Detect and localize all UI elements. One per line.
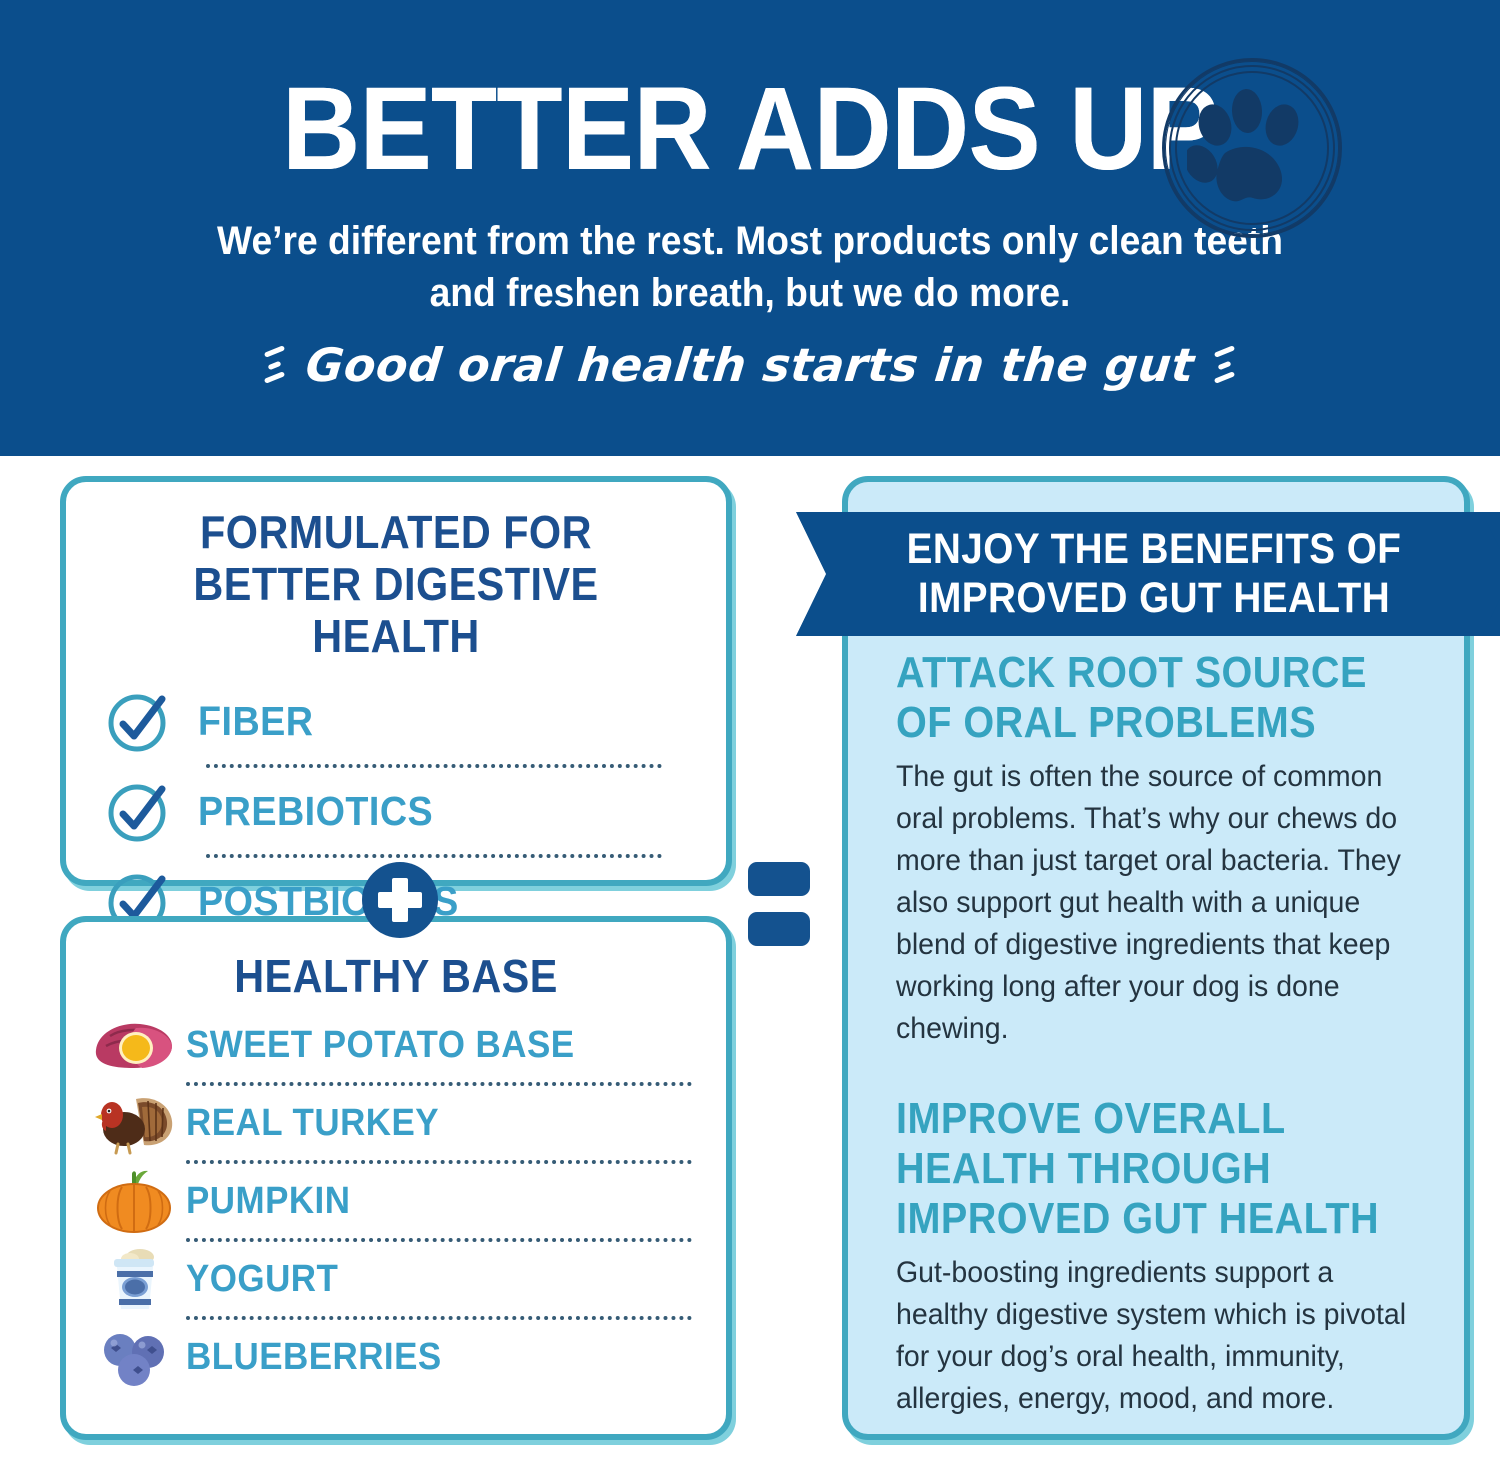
plus-icon [362, 862, 438, 938]
divider [186, 1082, 692, 1086]
benefits-ribbon-title: ENJOY THE BENEFITS OF IMPROVED GUT HEALT… [832, 525, 1476, 623]
list-item[interactable]: PREBIOTICS [102, 768, 690, 854]
benefit-block-1: ATTACK ROOT SOURCE OF ORAL PROBLEMS The … [896, 648, 1436, 1050]
list-item-label: PUMPKIN [186, 1180, 350, 1223]
list-item-label: YOGURT [186, 1258, 338, 1301]
yogurt-cup-icon [88, 1245, 180, 1313]
benefit-block-2: IMPROVE OVERALL HEALTH THROUGH IMPROVED … [896, 1094, 1436, 1420]
paw-print-icon [1162, 58, 1342, 238]
list-item-label: BLUEBERRIES [186, 1336, 442, 1379]
benefits-ribbon-inner: ENJOY THE BENEFITS OF IMPROVED GUT HEALT… [796, 512, 1500, 636]
list-item[interactable]: YOGURT [88, 1242, 696, 1316]
list-item[interactable]: FIBER [102, 678, 690, 764]
list-item-label: SWEET POTATO BASE [186, 1024, 575, 1067]
header-subtitle: We’re different from the rest. Most prod… [211, 215, 1290, 319]
healthy-base-item-list: SWEET POTATO BASE [66, 1008, 726, 1394]
formulated-panel-title: FORMULATED FOR BETTER DIGESTIVE HEALTH [99, 482, 693, 662]
benefit-heading: IMPROVE OVERALL HEALTH THROUGH IMPROVED … [896, 1094, 1382, 1244]
divider [206, 764, 662, 768]
list-item-label: REAL TURKEY [186, 1102, 439, 1145]
benefits-body: ATTACK ROOT SOURCE OF ORAL PROBLEMS The … [896, 648, 1436, 1420]
header-tagline: Good oral health starts in the gut [303, 336, 1197, 394]
divider [186, 1316, 692, 1320]
list-item-label: PREBIOTICS [198, 788, 433, 835]
equals-icon [748, 856, 810, 956]
check-circle-icon [102, 777, 176, 845]
header-tagline-row: Good oral health starts in the gut [0, 336, 1500, 394]
check-circle-icon [102, 687, 176, 755]
plus-bar-vertical [392, 878, 408, 922]
sweet-potato-icon [88, 1016, 180, 1074]
list-item[interactable]: PUMPKIN [88, 1164, 696, 1238]
benefit-paragraph: The gut is often the source of common or… [896, 756, 1409, 1050]
healthy-base-panel: HEALTHY BASE SWEET POTATO BASE [60, 916, 732, 1440]
header-banner: BETTER ADDS UP We’re different from the … [0, 0, 1500, 456]
equals-bar-top [748, 862, 810, 896]
pumpkin-icon [88, 1168, 180, 1234]
benefit-heading: ATTACK ROOT SOURCE OF ORAL PROBLEMS [896, 648, 1382, 748]
divider [186, 1160, 692, 1164]
divider [206, 854, 662, 858]
turkey-icon [88, 1089, 180, 1157]
list-item[interactable]: SWEET POTATO BASE [88, 1008, 696, 1082]
benefits-ribbon: ENJOY THE BENEFITS OF IMPROVED GUT HEALT… [796, 512, 1500, 636]
tagline-flourish-right-icon [1212, 339, 1238, 391]
list-item[interactable]: REAL TURKEY [88, 1086, 696, 1160]
formulated-panel: FORMULATED FOR BETTER DIGESTIVE HEALTH F… [60, 476, 732, 886]
blueberries-icon [88, 1326, 180, 1388]
benefit-paragraph: Gut-boosting ingredients support a healt… [896, 1252, 1409, 1420]
paw-glyph [1187, 85, 1317, 211]
equals-bar-bottom [748, 912, 810, 946]
list-item-label: FIBER [198, 698, 313, 745]
tagline-flourish-left-icon [262, 339, 288, 391]
divider [186, 1238, 692, 1242]
list-item[interactable]: BLUEBERRIES [88, 1320, 696, 1394]
